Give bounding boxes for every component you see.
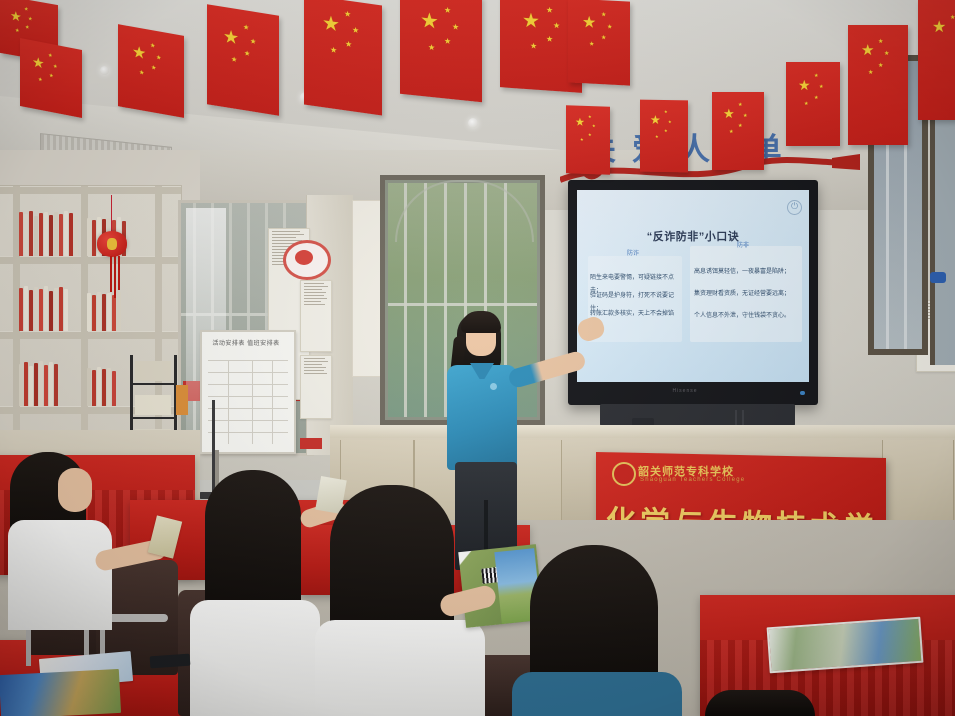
lantern-tassel: [118, 256, 120, 290]
photo-scene: 关爱人 单元: [0, 0, 955, 716]
chinese-national-flag: ★ ★ ★ ★ ★: [712, 92, 764, 170]
chinese-national-flag: ★ ★ ★: [918, 0, 955, 120]
chinese-national-flag: ★ ★ ★ ★ ★: [400, 0, 482, 102]
tv-status-led: [800, 391, 805, 395]
chinese-national-flag: ★ ★ ★ ★ ★: [848, 25, 908, 145]
slide-right-heading: 防非: [718, 240, 768, 249]
book-row: [19, 210, 79, 256]
slide-left-heading: 防诈: [608, 248, 658, 257]
presenter-shirt-logo: [490, 383, 497, 390]
chinese-national-flag: ★ ★ ★ ★ ★: [566, 105, 610, 175]
presenter-hair-top: [461, 311, 501, 333]
counter-top: [330, 425, 955, 438]
qr-code-icon[interactable]: [481, 567, 497, 583]
slide-title: “反诈防非”小口诀: [585, 228, 801, 244]
audience-5-hair: [705, 690, 815, 716]
lantern-tassel: [114, 256, 116, 298]
anti-fraud-brochure[interactable]: [0, 669, 121, 716]
book-row: [19, 286, 79, 331]
chinese-national-flag: ★ ★ ★ ★ ★: [568, 0, 630, 86]
chinese-national-flag: ★ ★ ★ ★ ★: [640, 100, 688, 173]
slide-right-line-3: 个人信息不外泄，守住钱袋不贪心。: [694, 310, 800, 323]
power-icon[interactable]: ⏻: [787, 200, 802, 215]
audience-1-body: [8, 520, 112, 630]
audience-2-body: [190, 600, 320, 716]
chinese-national-flag: ★ ★ ★ ★ ★: [20, 38, 82, 118]
orange-sign: [176, 385, 188, 415]
chinese-national-flag: ★ ★ ★ ★ ★: [304, 0, 382, 115]
audience-1-face: [58, 468, 92, 512]
schedule-poster: [300, 355, 332, 419]
presenter-shirt: [447, 365, 517, 470]
lantern-emblem: [107, 238, 117, 250]
book-row: [87, 291, 149, 331]
chinese-national-flag: ★ ★ ★ ★ ★: [786, 62, 840, 146]
lantern-cord: [111, 195, 112, 233]
slide-right-line-1: 高息诱饵莫轻信，一夜暴富是陷阱；: [694, 266, 800, 279]
round-seal-center: [295, 250, 313, 265]
whiteboard-title: 活动安排表 值班安排表: [206, 338, 286, 347]
chinese-national-flag: ★ ★ ★ ★ ★: [207, 4, 279, 115]
audience-3-body: [315, 620, 485, 716]
mic-stand: [212, 400, 215, 495]
cabinet-door[interactable]: [882, 440, 954, 532]
tv-brand-label: Hisense: [665, 388, 705, 394]
school-emblem-icon: [612, 462, 636, 486]
audience-4-body: [512, 672, 682, 716]
ceiling-light: [468, 118, 478, 128]
book-row: [19, 361, 79, 406]
window-sticker: [930, 272, 946, 283]
schedule-poster: [300, 280, 332, 352]
ceiling-light: [100, 66, 109, 75]
tv-stand: [600, 404, 795, 426]
lantern-tassel: [110, 256, 112, 292]
small-red-sign: [300, 438, 322, 449]
slide-right-line-2: 集资理财看资质，无证经营要远离；: [694, 288, 800, 301]
banner-school-name-en: Shaoguan Teachers College: [640, 477, 810, 483]
chinese-national-flag: ★ ★ ★ ★ ★: [118, 24, 184, 118]
